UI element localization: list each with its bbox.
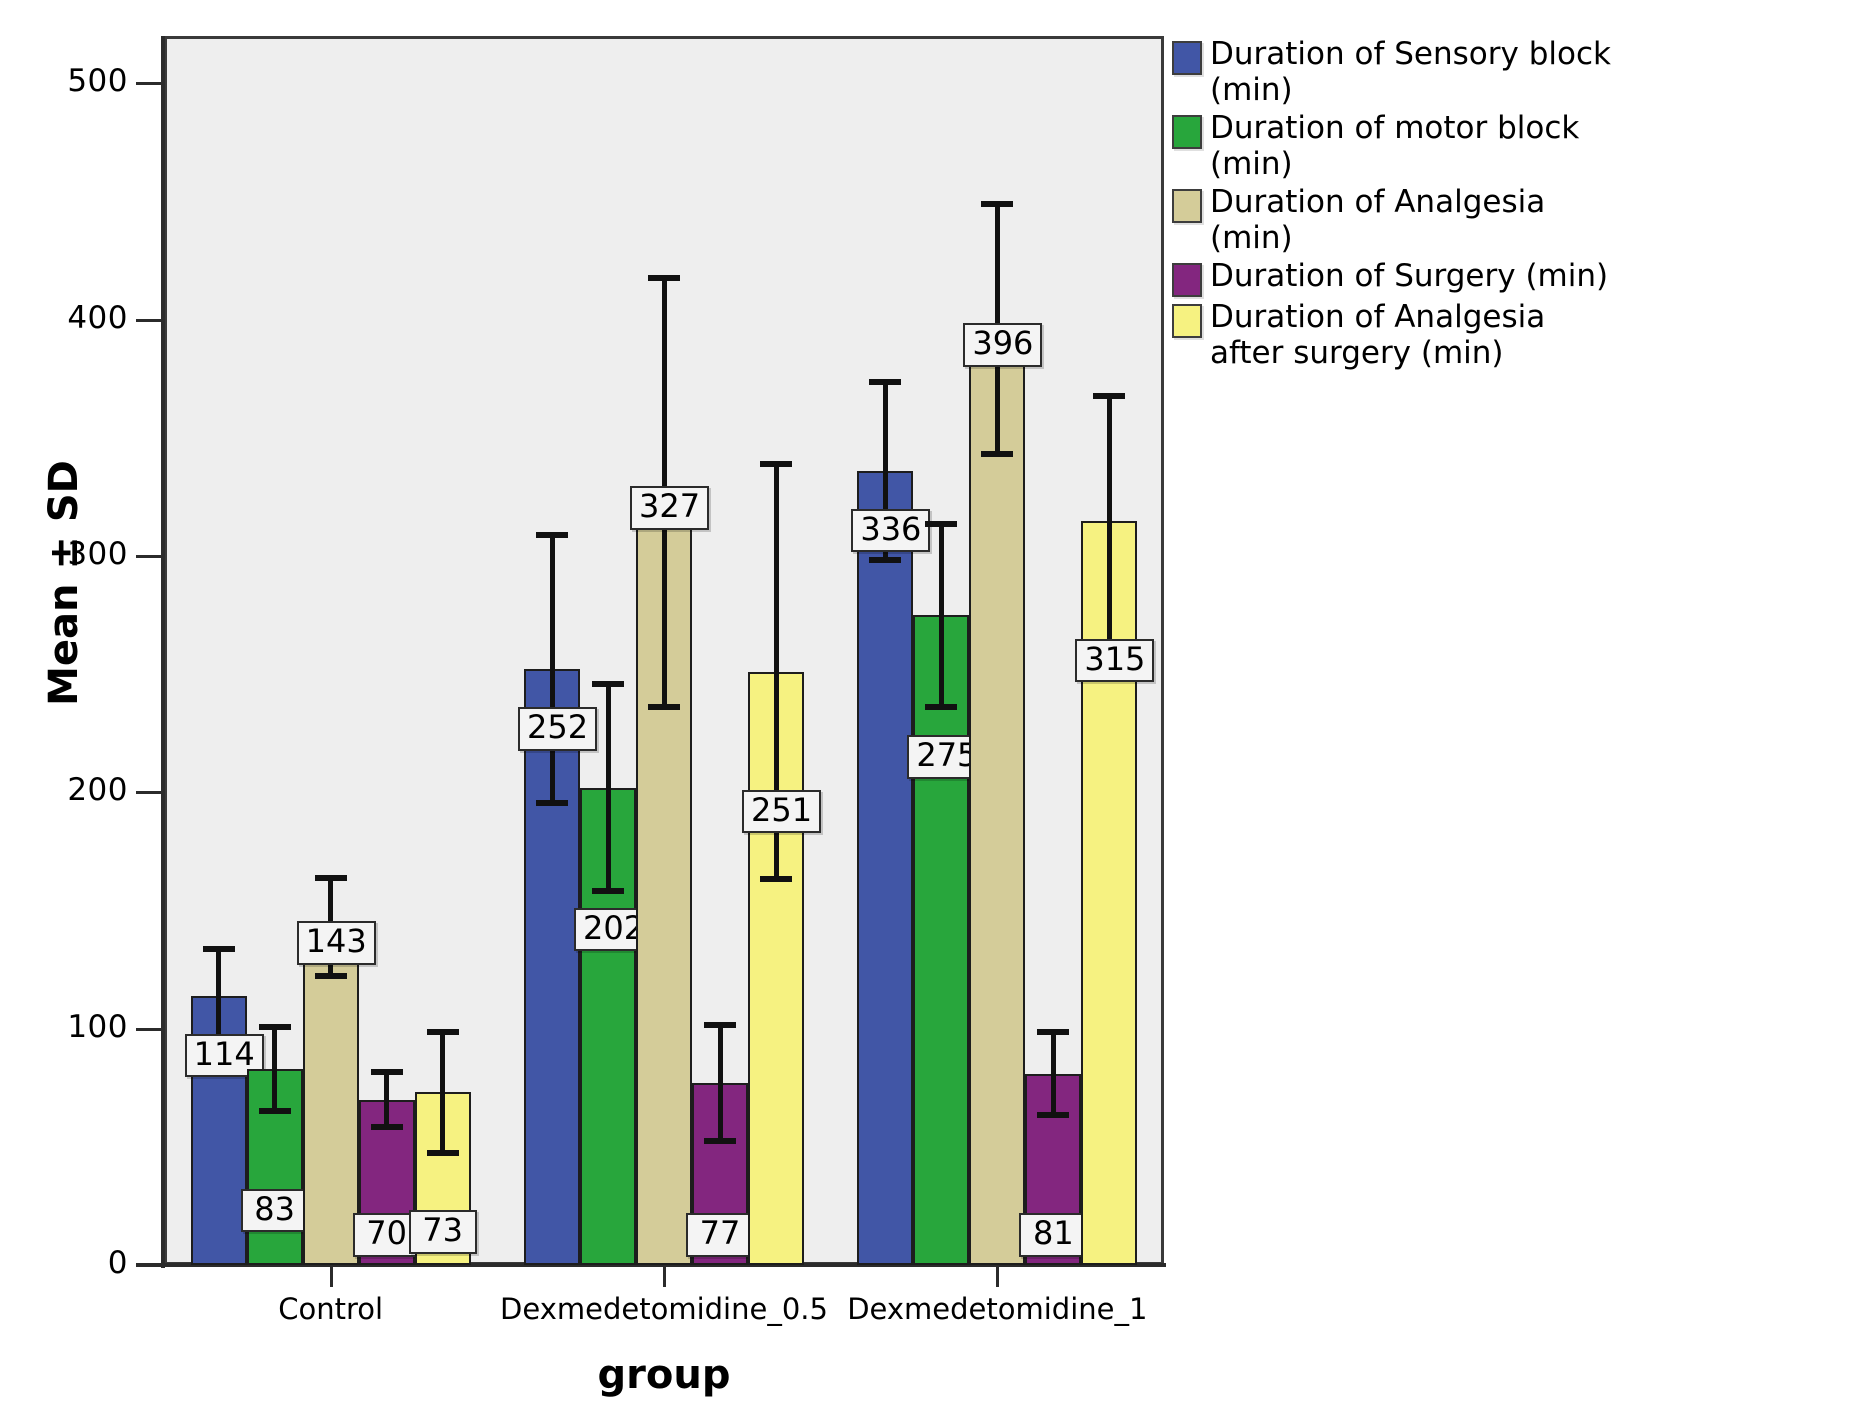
bar [913, 615, 969, 1265]
y-tick-mark [136, 555, 164, 558]
error-bar-stem [440, 1029, 445, 1157]
x-axis-title: group [164, 1352, 1164, 1398]
error-bar-stem [718, 1022, 723, 1145]
y-tick-mark [136, 1028, 164, 1031]
error-bar [580, 681, 636, 894]
error-bar [692, 1022, 748, 1145]
legend-item-label: Duration of motor block (min) [1210, 110, 1622, 182]
error-bar-stem [550, 532, 555, 806]
error-bar-cap-lower [1037, 1112, 1069, 1118]
y-tick-label: 0 [18, 1245, 128, 1281]
x-tick-mark [996, 1267, 999, 1287]
error-bar-cap-lower [648, 704, 680, 710]
error-bar-cap-lower [259, 1108, 291, 1114]
error-bar-stem [1051, 1029, 1056, 1119]
y-tick-label: 300 [18, 536, 128, 572]
error-bar-cap-lower [704, 1138, 736, 1144]
error-bar-cap-upper [648, 275, 680, 281]
y-axis-line [161, 36, 165, 1268]
legend-color-swatch [1172, 263, 1202, 297]
error-bar-cap-upper [536, 532, 568, 538]
error-bar-cap-upper [1093, 393, 1125, 399]
bar-value-label: 315 [1075, 639, 1154, 683]
legend: Duration of Sensory block (min)Duration … [1172, 36, 1622, 373]
error-bar-cap-upper [203, 946, 235, 952]
bar-value-label: 83 [241, 1189, 309, 1233]
x-tick-label: Dexmedetomidine_1 [747, 1292, 1247, 1326]
legend-color-swatch [1172, 115, 1202, 149]
error-bar-cap-lower [760, 876, 792, 882]
legend-color-swatch [1172, 189, 1202, 223]
error-bar [247, 1024, 303, 1114]
error-bar [191, 946, 247, 1045]
bar-value-label: 143 [297, 921, 376, 965]
error-bar-cap-lower [925, 704, 957, 710]
error-bar [415, 1029, 471, 1157]
bar-value-label: 251 [742, 790, 821, 834]
legend-item-label: Duration of Analgesia (min) [1210, 184, 1622, 256]
y-tick-label: 100 [18, 1009, 128, 1045]
y-axis-title: Mean ± SD [41, 453, 87, 713]
y-tick-label: 500 [18, 63, 128, 99]
legend-item: Duration of Analgesia after surgery (min… [1172, 299, 1622, 371]
error-bar-cap-lower [592, 888, 624, 894]
error-bar-cap-upper [869, 379, 901, 385]
y-tick-mark [136, 82, 164, 85]
legend-item-label: Duration of Analgesia after surgery (min… [1210, 299, 1622, 371]
error-bar-cap-lower [981, 451, 1013, 457]
error-bar-cap-lower [536, 800, 568, 806]
legend-item-label: Duration of Sensory block (min) [1210, 36, 1622, 108]
error-bar-cap-upper [259, 1024, 291, 1030]
error-bar [1025, 1029, 1081, 1119]
error-bar-stem [1107, 393, 1112, 648]
error-bar-cap-upper [427, 1029, 459, 1035]
error-bar-stem [384, 1069, 389, 1130]
error-bar-cap-upper [592, 681, 624, 687]
error-bar-cap-lower [315, 973, 347, 979]
y-tick-mark [136, 319, 164, 322]
error-bar-cap-upper [371, 1069, 403, 1075]
bar-value-label: 327 [630, 486, 709, 530]
error-bar-cap-upper [1037, 1029, 1069, 1035]
x-tick-mark [663, 1267, 666, 1287]
y-tick-label: 200 [18, 772, 128, 808]
bar-value-label: 81 [1019, 1213, 1087, 1257]
y-tick-mark [136, 791, 164, 794]
bar-value-label: 77 [686, 1213, 754, 1257]
bar [969, 329, 1025, 1265]
x-tick-mark [330, 1267, 333, 1287]
error-bar [359, 1069, 415, 1130]
y-tick-mark [136, 1264, 164, 1267]
error-bar-cap-upper [704, 1022, 736, 1028]
error-bar-cap-upper [315, 875, 347, 881]
bar [857, 471, 913, 1265]
legend-item: Duration of Sensory block (min) [1172, 36, 1622, 108]
bar-chart: Mean ± SD 0100200300400500 1148314370732… [0, 0, 1852, 1428]
error-bar [1081, 393, 1137, 648]
error-bar-cap-lower [427, 1150, 459, 1156]
bar-value-label: 396 [963, 323, 1042, 367]
error-bar-stem [272, 1024, 277, 1114]
error-bar-cap-lower [869, 557, 901, 563]
legend-item: Duration of Analgesia (min) [1172, 184, 1622, 256]
error-bar-cap-upper [981, 201, 1013, 207]
legend-item: Duration of Surgery (min) [1172, 258, 1622, 297]
bar-value-label: 73 [409, 1210, 477, 1254]
error-bar-stem [939, 521, 944, 710]
error-bar-stem [216, 946, 221, 1045]
error-bar [913, 521, 969, 710]
legend-color-swatch [1172, 41, 1202, 75]
error-bar [524, 532, 580, 806]
legend-item-label: Duration of Surgery (min) [1210, 258, 1608, 294]
error-bar-stem [606, 681, 611, 894]
y-tick-label: 400 [18, 300, 128, 336]
legend-item: Duration of motor block (min) [1172, 110, 1622, 182]
error-bar-cap-lower [371, 1124, 403, 1130]
error-bar-cap-upper [760, 461, 792, 467]
legend-color-swatch [1172, 304, 1202, 338]
error-bar-cap-upper [925, 521, 957, 527]
